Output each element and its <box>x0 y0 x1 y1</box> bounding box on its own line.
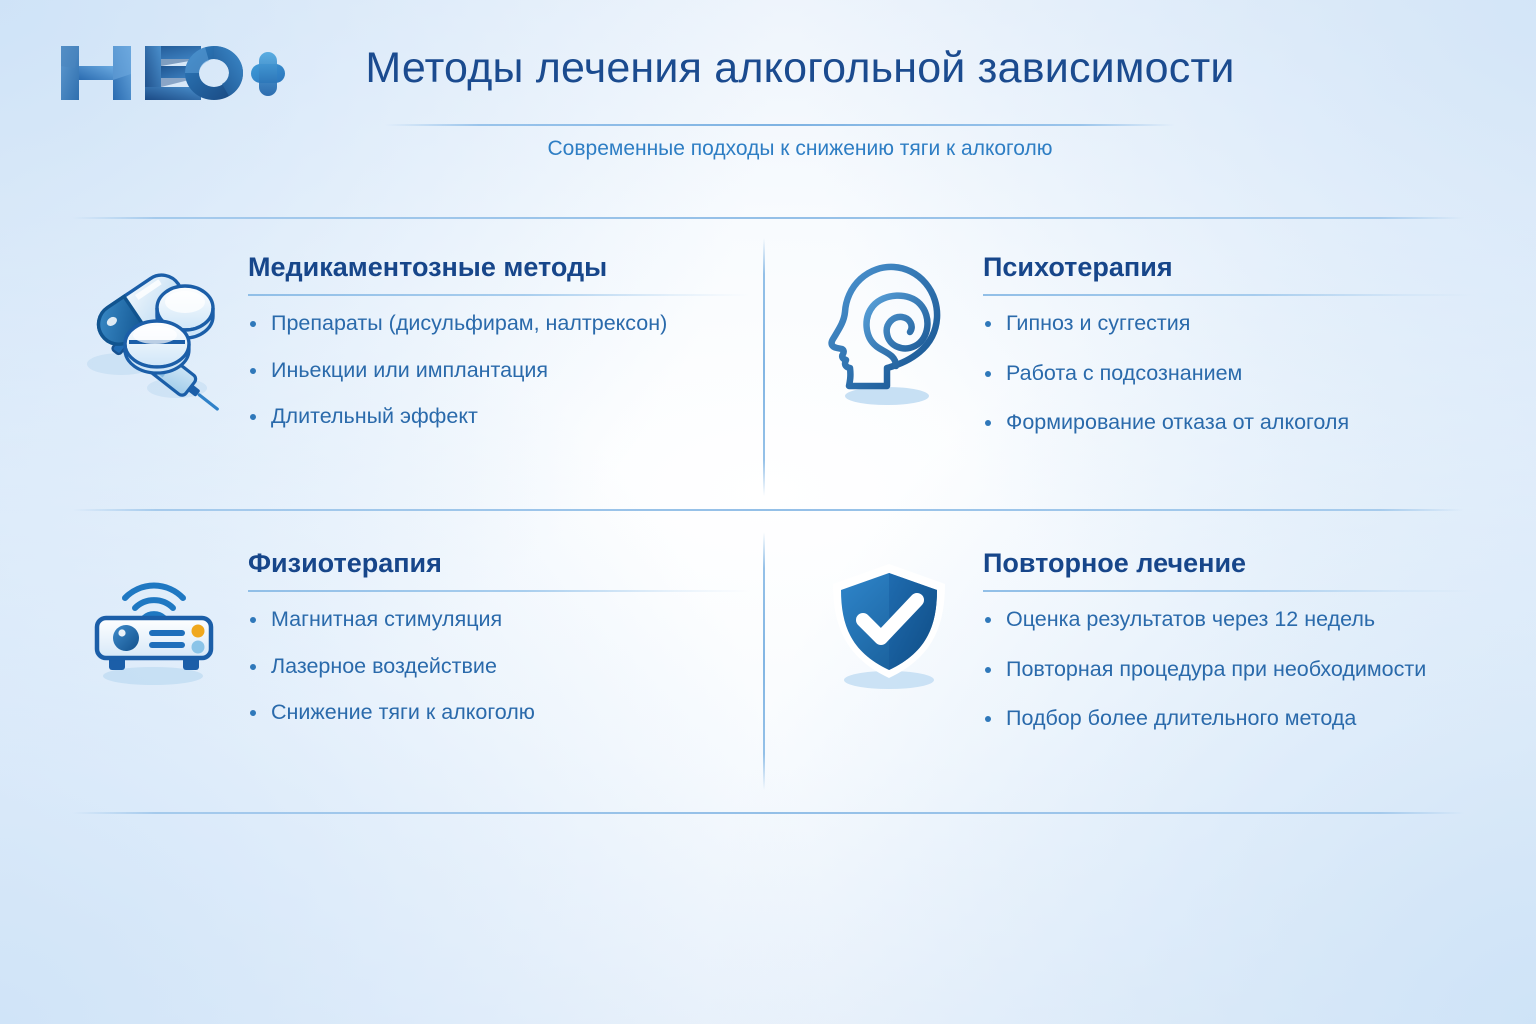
bullet-list: Препараты (дисульфирам, налтрексон) Инье… <box>248 310 750 431</box>
card-title: Физиотерапия <box>248 548 750 579</box>
therapy-device-icon <box>80 548 232 686</box>
card-body: Физиотерапия Магнитная стимуляция Лазерн… <box>232 548 750 727</box>
card-body: Медикаментозные методы Препараты (дисуль… <box>232 252 750 431</box>
shield-check-icon <box>815 548 967 696</box>
list-item: Повторная процедура при необходимости <box>983 656 1475 684</box>
card-physiotherapy: Физиотерапия Магнитная стимуляция Лазерн… <box>80 548 750 727</box>
card-title-divider <box>248 294 750 296</box>
head-spiral-icon <box>815 252 967 411</box>
card-title: Повторное лечение <box>983 548 1475 579</box>
infographic-canvas: Методы лечения алкогольной зависимости С… <box>0 0 1536 1024</box>
list-item: Длительный эффект <box>248 403 750 431</box>
list-item: Оценка результатов через 12 недель <box>983 606 1475 634</box>
bullet-list: Магнитная стимуляция Лазерное воздействи… <box>248 606 750 727</box>
card-body: Психотерапия Гипноз и суггестия Работа с… <box>967 252 1475 459</box>
list-item: Гипноз и суггестия <box>983 310 1475 338</box>
bullet-list: Гипноз и суггестия Работа с подсознанием… <box>983 310 1475 437</box>
card-title: Психотерапия <box>983 252 1475 283</box>
list-item: Иньекции или имплантация <box>248 357 750 385</box>
card-title-divider <box>983 294 1475 296</box>
card-title: Медикаментозные методы <box>248 252 750 283</box>
bullet-list: Оценка результатов через 12 недель Повто… <box>983 606 1475 733</box>
list-item: Магнитная стимуляция <box>248 606 750 634</box>
list-item: Препараты (дисульфирам, налтрексон) <box>248 310 750 338</box>
list-item: Снижение тяги к алкоголю <box>248 699 750 727</box>
card-title-divider <box>248 590 750 592</box>
list-item: Лазерное воздействие <box>248 653 750 681</box>
list-item: Работа с подсознанием <box>983 360 1475 388</box>
card-title-divider <box>983 590 1475 592</box>
list-item: Формирование отказа от алкоголя <box>983 409 1475 437</box>
card-medication: Медикаментозные методы Препараты (дисуль… <box>80 252 750 431</box>
card-body: Повторное лечение Оценка результатов чер… <box>967 548 1475 755</box>
list-item: Подбор более длительного метода <box>983 705 1475 733</box>
card-psychotherapy: Психотерапия Гипноз и суггестия Работа с… <box>815 252 1475 459</box>
cards-grid: Медикаментозные методы Препараты (дисуль… <box>0 0 1536 1024</box>
pills-syringe-icon <box>80 252 232 416</box>
card-repeat-treatment: Повторное лечение Оценка результатов чер… <box>815 548 1475 755</box>
